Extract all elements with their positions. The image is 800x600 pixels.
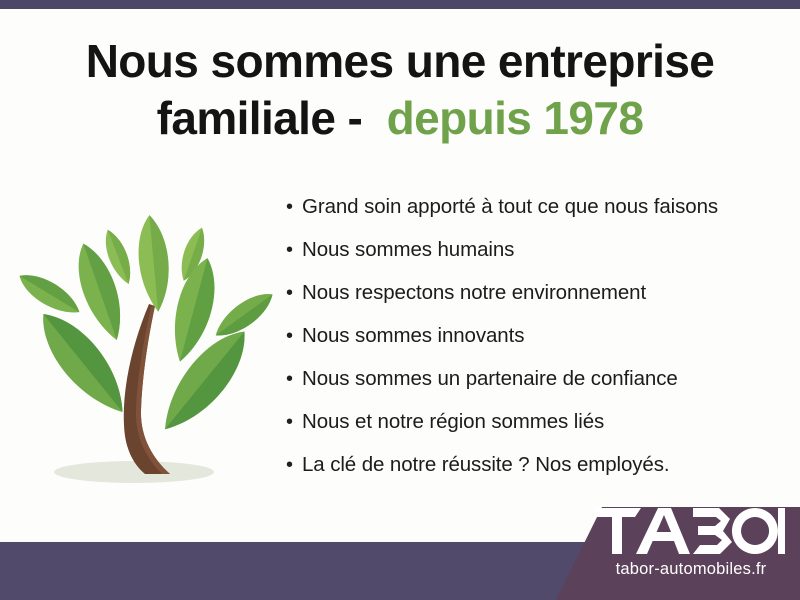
slide-canvas: Nous sommes une entreprise familiale - d… bbox=[0, 0, 800, 600]
bullet-icon: • bbox=[286, 278, 302, 308]
list-item-label: Nous et notre région sommes liés bbox=[302, 407, 604, 437]
bullet-icon: • bbox=[286, 235, 302, 265]
headline-line-2-plain: familiale - bbox=[157, 92, 363, 144]
bullet-icon: • bbox=[286, 321, 302, 351]
list-item: • Nous sommes humains bbox=[286, 235, 786, 278]
list-item-label: La clé de notre réussite ? Nos employés. bbox=[302, 450, 669, 480]
logo-url: tabor-automobiles.fr bbox=[595, 560, 787, 579]
tree-leaf-icon bbox=[14, 266, 85, 322]
list-item: • Nous et notre région sommes liés bbox=[286, 407, 786, 450]
tree-illustration bbox=[12, 182, 274, 490]
page-title: Nous sommes une entreprise familiale - d… bbox=[60, 33, 740, 146]
tree-trunk-icon bbox=[124, 304, 170, 474]
bullet-icon: • bbox=[286, 407, 302, 437]
list-item-label: Nous sommes humains bbox=[302, 235, 514, 265]
list-item: • Grand soin apporté à tout ce que nous … bbox=[286, 192, 786, 235]
list-item: • Nous sommes un partenaire de confiance bbox=[286, 364, 786, 407]
headline-line-1: Nous sommes une entreprise bbox=[86, 35, 715, 87]
list-item-label: Nous sommes un partenaire de confiance bbox=[302, 364, 678, 394]
tree-leaf-icon bbox=[136, 214, 172, 313]
bullet-icon: • bbox=[286, 450, 302, 480]
list-item-label: Grand soin apporté à tout ce que nous fa… bbox=[302, 192, 718, 222]
list-item-label: Nous sommes innovants bbox=[302, 321, 524, 351]
tree-leaf-icon bbox=[28, 301, 137, 425]
bullet-icon: • bbox=[286, 364, 302, 394]
tree-leaf-icon bbox=[149, 319, 261, 441]
list-item: • Nous respectons notre environnement bbox=[286, 278, 786, 321]
top-accent-bar bbox=[0, 0, 800, 9]
list-item-label: Nous respectons notre environnement bbox=[302, 278, 646, 308]
list-item: • Nous sommes innovants bbox=[286, 321, 786, 364]
list-item: • La clé de notre réussite ? Nos employé… bbox=[286, 450, 786, 493]
tabor-logo-wordmark bbox=[595, 508, 785, 554]
tree-shadow-icon bbox=[54, 461, 214, 483]
headline-line-2-accent: depuis 1978 bbox=[387, 92, 644, 144]
benefits-list: • Grand soin apporté à tout ce que nous … bbox=[286, 192, 786, 493]
bullet-icon: • bbox=[286, 192, 302, 222]
